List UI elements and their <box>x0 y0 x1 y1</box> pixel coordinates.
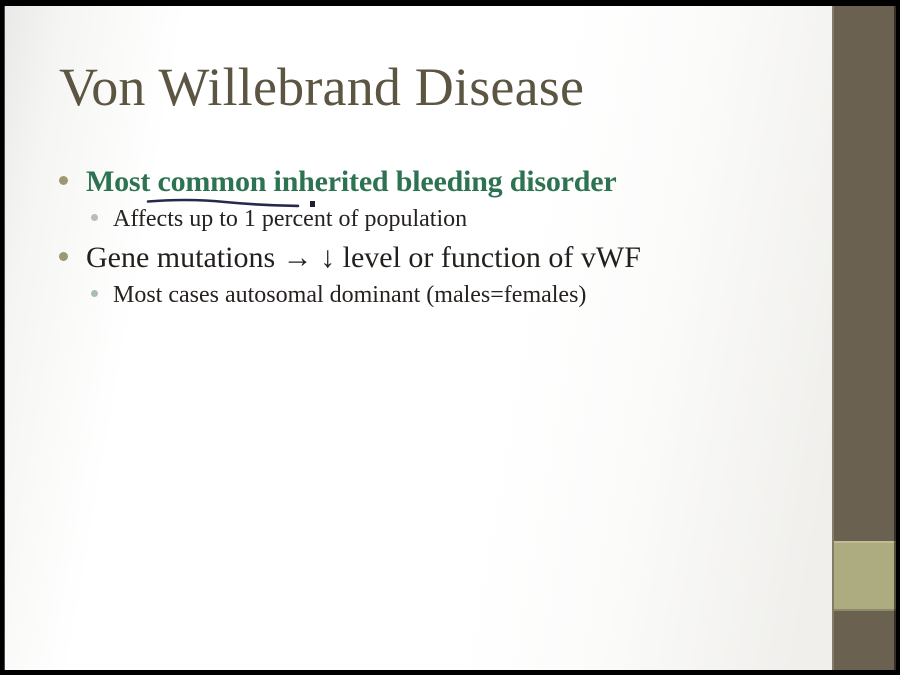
bullet-item-3-label: Gene mutations → ↓ level or function of … <box>86 239 641 277</box>
right-band-accent-block <box>834 541 896 611</box>
round-bullet-icon <box>91 214 98 221</box>
round-bullet-icon <box>59 176 68 185</box>
right-band-accent-bottom-edge <box>834 609 896 611</box>
slide-canvas: Von Willebrand Disease Most common inher… <box>4 6 896 670</box>
bullet-item-2: Affects up to 1 percent of population <box>59 203 809 239</box>
bullet-item-1-label: Most common inherited bleeding disorder <box>86 163 617 201</box>
bullet-item-4-label: Most cases autosomal dominant (males=fem… <box>113 279 586 311</box>
bullet-item-4: Most cases autosomal dominant (males=fem… <box>59 279 809 315</box>
round-bullet-icon <box>91 290 98 297</box>
presentation-slide-frame: Von Willebrand Disease Most common inher… <box>0 0 900 675</box>
bullet-item-2-label: Affects up to 1 percent of population <box>113 203 467 235</box>
slide-body-content: Most common inherited bleeding disorder … <box>59 163 809 315</box>
bullet-item-1: Most common inherited bleeding disorder <box>59 163 809 203</box>
right-band-accent-top-edge <box>834 541 896 543</box>
round-bullet-icon <box>59 252 68 261</box>
right-band-dark-edge <box>894 6 896 670</box>
bullet-item-3: Gene mutations → ↓ level or function of … <box>59 239 809 279</box>
slide-left-edge-line <box>4 6 5 670</box>
slide-title: Von Willebrand Disease <box>59 55 799 119</box>
